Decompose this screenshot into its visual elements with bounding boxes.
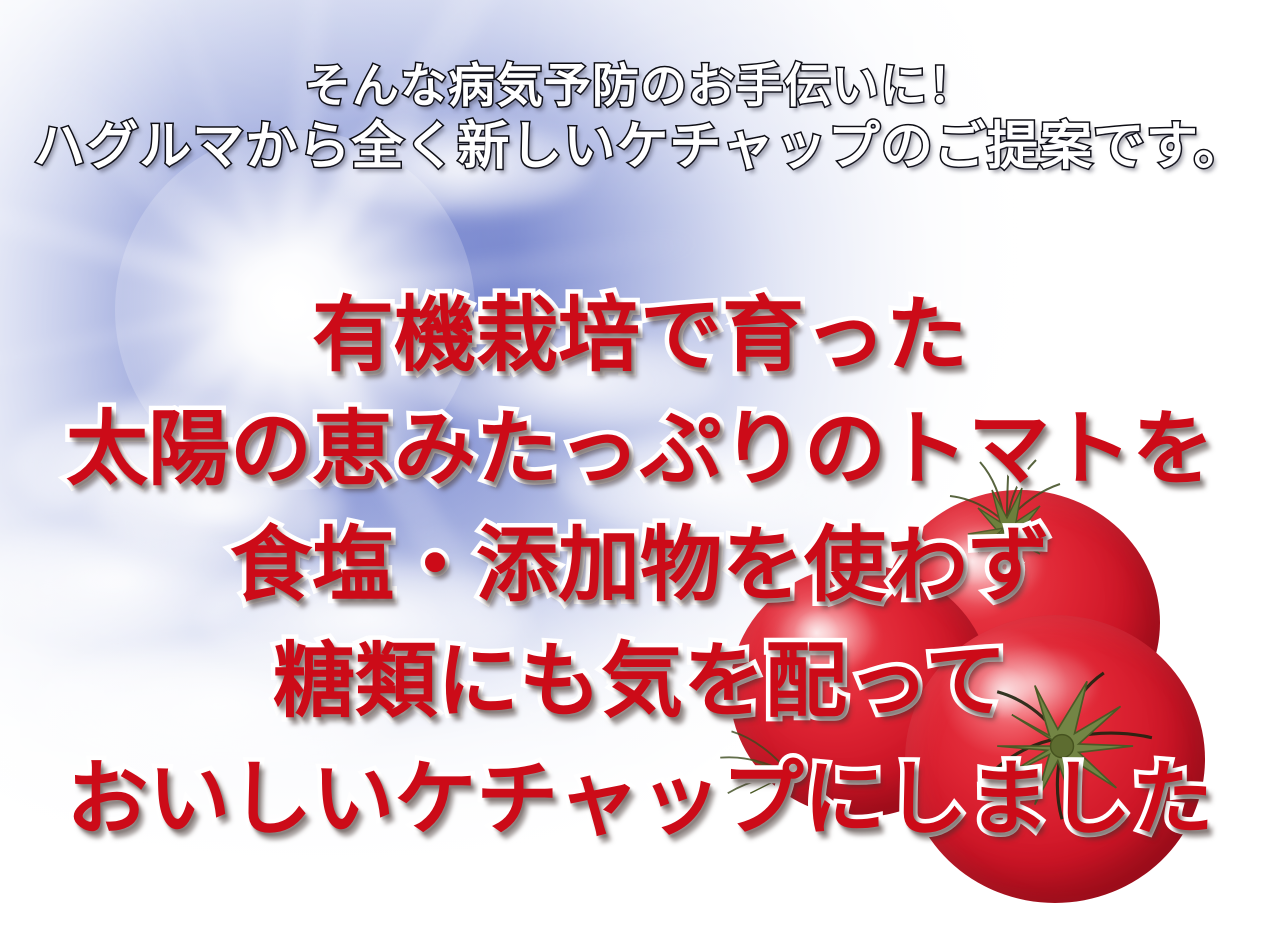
headline-line-1-wrap: 有機栽培で育った: [0, 268, 1280, 387]
headline-line-4-wrap: 糖類にも気を配って: [0, 614, 1280, 733]
headline-line-3: 食塩・添加物を使わず: [230, 518, 1050, 613]
headline-line-4: 糖類にも気を配って: [273, 634, 1007, 729]
headline-line-3-wrap: 食塩・添加物を使わず: [0, 498, 1280, 617]
promo-poster: そんな病気予防のお手伝いに！ ハグルマから全く新しいケチャップのご提案です。 有…: [0, 0, 1280, 951]
headline-line-5: おいしいケチャップにしました: [66, 752, 1213, 847]
headline-line-1: 有機栽培で育った: [312, 288, 968, 383]
intro-text-block: そんな病気予防のお手伝いに！ ハグルマから全く新しいケチャップのご提案です。: [0, 58, 1280, 178]
intro-line-1: そんな病気予防のお手伝いに！: [0, 58, 1280, 116]
intro-line-2: ハグルマから全く新しいケチャップのご提案です。: [0, 116, 1280, 178]
headline-line-2: 太陽の恵みたっぷりのトマトを: [66, 402, 1214, 497]
headline-line-5-wrap: おいしいケチャップにしました: [0, 732, 1280, 851]
headline-line-2-wrap: 太陽の恵みたっぷりのトマトを: [0, 382, 1280, 501]
